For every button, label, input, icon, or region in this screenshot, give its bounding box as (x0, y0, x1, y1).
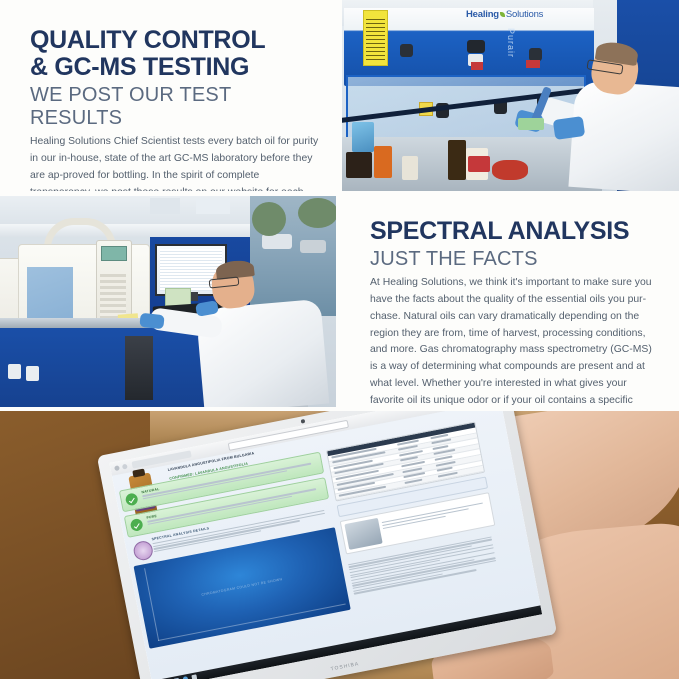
scientist2-glove-left (139, 313, 164, 329)
wall-outlet-2 (26, 366, 39, 381)
horizontal-seam-top (0, 191, 679, 196)
check-circle-icon-2 (130, 518, 144, 532)
quality-heading: QUALITY CONTROL & GC-MS TESTING (30, 27, 320, 81)
shelf-box-2 (196, 198, 230, 214)
window-tree-1 (252, 202, 286, 236)
report-left-column: NATURAL PURE (119, 452, 351, 649)
shelf-box-1 (150, 198, 180, 214)
hood-red-label (471, 62, 483, 70)
reagent-red-label (468, 156, 490, 172)
orange-cap-bottle (374, 146, 392, 178)
taskbar-app-icon[interactable] (191, 674, 197, 679)
sample-tray (518, 118, 544, 130)
hood-knob-left (400, 44, 413, 57)
quality-heading-line1: QUALITY CONTROL (30, 26, 265, 54)
overhead-shelf-edge (0, 224, 250, 237)
horizontal-seam-bottom (0, 407, 679, 411)
report-right-column (326, 421, 503, 595)
spectral-subheading: JUST THE FACTS (370, 248, 662, 271)
window-car-2 (300, 240, 326, 253)
certification-seal-icon (132, 540, 154, 562)
chart-watermark-text: CHROMATOGRAM COULD NOT BE SHOWN (141, 565, 343, 609)
tablet-report-photo: TOSHIBA (0, 410, 679, 679)
reagent-bottle-1 (402, 156, 418, 180)
quality-subheading: WE POST OUR TEST RESULTS (30, 84, 320, 130)
scientist-photo (344, 518, 382, 550)
browser-forward-icon[interactable] (122, 464, 128, 470)
gc-lcd-display[interactable] (101, 246, 127, 261)
hood-display-module (467, 40, 485, 53)
hood-brand-word2: Solutions (506, 9, 543, 20)
check-circle-icon (125, 492, 139, 506)
fume-hood-photo: HealingSolutions Purair (340, 0, 679, 191)
amber-bottle-1 (346, 152, 372, 178)
wall-outlet-1 (8, 364, 21, 379)
window-tree-2 (298, 198, 338, 228)
scientist-lab-coat (568, 80, 679, 191)
spectral-heading: SPECTRAL ANALYSIS (370, 218, 662, 245)
bottle-cap (132, 469, 145, 478)
window-car-1 (262, 234, 292, 249)
quality-control-panel: QUALITY CONTROL & GC-MS TESTING WE POST … (0, 0, 340, 191)
spectral-body-text: At Healing Solutions, we think it's impo… (370, 275, 662, 409)
hood-brand-word1: Healing (466, 9, 499, 20)
hazard-warning-placard (363, 10, 388, 66)
spectral-analysis-panel: SPECTRAL ANALYSIS JUST THE FACTS At Heal… (340, 196, 679, 409)
browser-back-icon[interactable] (114, 465, 120, 471)
blue-glove-right (553, 116, 585, 140)
quality-heading-line2: & GC-MS TESTING (30, 53, 249, 81)
amber-bottle-2 (448, 140, 466, 180)
red-tray (492, 160, 528, 180)
chart-x-axis (158, 604, 346, 641)
computer-tower (125, 336, 153, 400)
hood-leaf-icon (500, 12, 505, 17)
infographic-page: QUALITY CONTROL & GC-MS TESTING WE POST … (0, 0, 679, 679)
hood-equipment-arm (352, 122, 374, 152)
scientist2-lab-coat (196, 299, 330, 409)
vertical-seam (336, 0, 342, 410)
quality-body-text: Healing Solutions Chief Scientist tests … (30, 134, 320, 191)
hood-red-label-2 (526, 60, 540, 68)
gcms-instrument-photo (0, 196, 339, 409)
tablet-device[interactable]: TOSHIBA (97, 410, 557, 679)
hood-brand-label: HealingSolutions (466, 9, 543, 20)
